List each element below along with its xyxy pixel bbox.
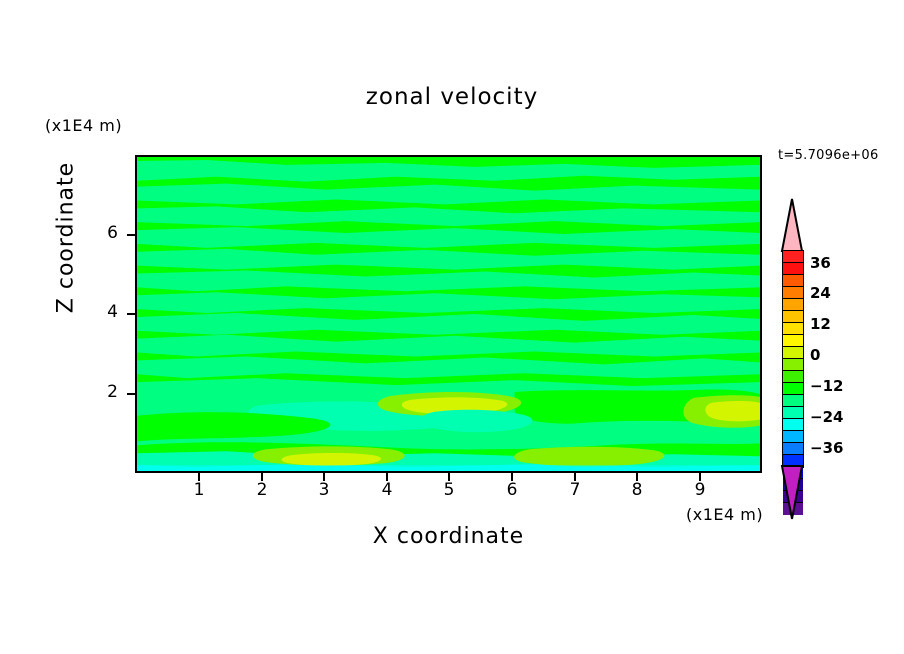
contour-plot-area [135,155,762,473]
y-tick-label-6: 6 [92,223,118,243]
colorbar-band [783,407,803,419]
x-axis-title: X coordinate [135,524,762,549]
colorbar-label-12: 12 [810,315,831,333]
colorbar-band [783,275,803,287]
colorbar-band [783,419,803,431]
x-tick-label-6: 6 [497,480,527,500]
colorbar-band [783,443,803,455]
figure-canvas: zonal velocity (x1E4 m) (x1E4 m) t=5.709… [0,0,904,654]
colorbar-band [783,335,803,347]
colorbar-band [783,251,803,263]
timestamp-label: t=5.7096e+06 [778,148,879,163]
colorbar-label-neg36: −36 [810,439,843,457]
colorbar-over-arrow [779,198,805,252]
colorbar-bands [782,250,804,468]
x-tick-label-9: 9 [685,480,715,500]
colorbar-band [783,263,803,275]
colorbar-label-0: 0 [810,346,820,364]
y-tick-label-4: 4 [92,302,118,322]
colorbar-band [783,431,803,443]
colorbar-band [783,359,803,371]
colorbar-under-arrow [779,464,805,520]
y-axis-title: Z coordinate [54,148,79,328]
colorbar-band [783,347,803,359]
y-tick-4 [127,313,135,315]
x-tick-label-5: 5 [434,480,464,500]
contour-field [137,157,760,471]
colorbar-band [783,383,803,395]
x-tick-label-2: 2 [247,480,277,500]
x-tick-label-4: 4 [372,480,402,500]
colorbar-label-neg12: −12 [810,377,843,395]
colorbar[interactable]: 36 24 12 0 −12 −24 −36 [779,198,805,518]
page-title: zonal velocity [0,84,904,110]
y-tick-6 [127,234,135,236]
colorbar-label-24: 24 [810,284,831,302]
colorbar-band [783,395,803,407]
x-tick-label-3: 3 [309,480,339,500]
colorbar-band [783,311,803,323]
x-tick-label-8: 8 [622,480,652,500]
colorbar-label-neg24: −24 [810,408,843,426]
x-tick-label-7: 7 [560,480,590,500]
y-tick-2 [127,393,135,395]
x-unit-label: (x1E4 m) [686,505,763,524]
y-tick-label-2: 2 [92,382,118,402]
colorbar-band [783,299,803,311]
x-tick-label-1: 1 [184,480,214,500]
colorbar-band [783,287,803,299]
colorbar-band [783,323,803,335]
colorbar-band [783,371,803,383]
y-unit-label: (x1E4 m) [45,116,122,135]
colorbar-label-36: 36 [810,254,831,272]
